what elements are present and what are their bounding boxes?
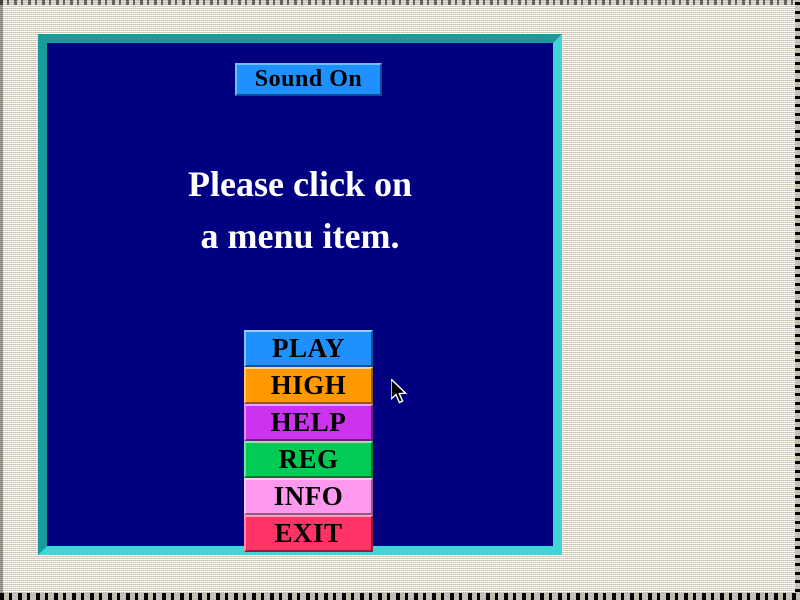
main-menu: PLAYHIGHHELPREGINFOEXIT xyxy=(244,330,373,552)
menu-item-reg[interactable]: REG xyxy=(244,441,373,478)
menu-item-help[interactable]: HELP xyxy=(244,404,373,441)
panel-frame: Sound On Please click on a menu item. PL… xyxy=(38,34,562,555)
menu-item-info[interactable]: INFO xyxy=(244,478,373,515)
arrow-pointer-icon xyxy=(391,379,409,405)
game-panel: Sound On Please click on a menu item. PL… xyxy=(47,43,553,546)
page-edge-left xyxy=(0,0,3,600)
sound-toggle-button[interactable]: Sound On xyxy=(235,63,382,96)
application-window: Sound On Please click on a menu item. PL… xyxy=(0,0,800,600)
page-edge-right xyxy=(795,0,800,600)
instruction-text: Please click on a menu item. xyxy=(47,158,553,262)
page-edge-top xyxy=(0,0,800,5)
instruction-line-1: Please click on xyxy=(47,158,553,210)
menu-item-high[interactable]: HIGH xyxy=(244,367,373,404)
menu-item-exit[interactable]: EXIT xyxy=(244,515,373,552)
menu-item-play[interactable]: PLAY xyxy=(244,330,373,367)
page-edge-bottom xyxy=(0,593,800,600)
instruction-line-2: a menu item. xyxy=(47,210,553,262)
